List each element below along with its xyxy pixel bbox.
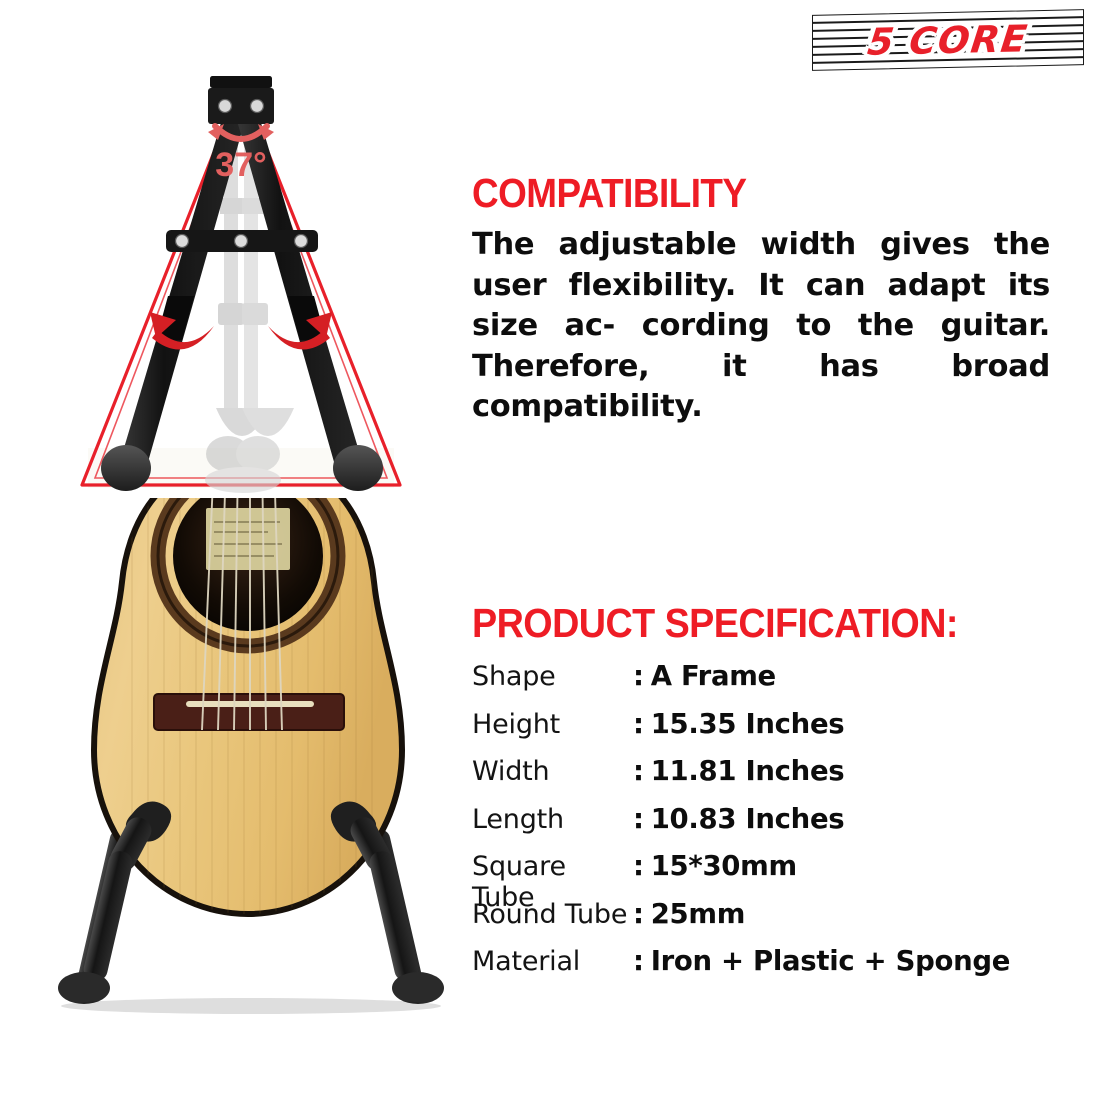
- spec-row: Width :11.81 Inches: [472, 755, 1072, 803]
- spec-row: Shape :A Frame: [472, 660, 1072, 708]
- spec-value: :Iron + Plastic + Sponge: [633, 945, 1010, 977]
- spec-row: Material :Iron + Plastic + Sponge: [472, 945, 1072, 993]
- specification-table: Shape :A Frame Height :15.35 Inches Widt…: [472, 660, 1072, 993]
- spec-value: :15.35 Inches: [633, 708, 844, 740]
- ground-shadow: [61, 998, 441, 1014]
- spec-row: Round Tube :25mm: [472, 898, 1072, 946]
- logo-wordmark-text: 5 CORE: [865, 17, 1030, 63]
- crossbar-rivet-right: [295, 235, 308, 248]
- stand-leg-right-lower: [367, 849, 420, 983]
- bracket-rivet-right: [251, 100, 264, 113]
- compatibility-heading: COMPATIBILITY: [472, 170, 747, 217]
- spec-value: :15*30mm: [633, 850, 797, 882]
- stand-angle-diagram: 37°: [58, 48, 424, 496]
- bracket-rivet-left: [219, 100, 232, 113]
- spec-colon: :: [633, 708, 644, 740]
- guitar-bridge: [154, 694, 344, 730]
- spec-row: Length :10.83 Inches: [472, 803, 1072, 851]
- spec-colon: :: [633, 898, 644, 930]
- spec-colon: :: [633, 755, 644, 787]
- spec-colon: :: [633, 803, 644, 835]
- spec-value-text: 15.35 Inches: [651, 708, 845, 740]
- spec-value-text: 15*30mm: [651, 850, 797, 882]
- specification-heading: PRODUCT SPECIFICATION:: [472, 600, 958, 647]
- spec-value-text: A Frame: [651, 660, 776, 692]
- spec-label: Length: [472, 804, 633, 835]
- spec-value-text: Iron + Plastic + Sponge: [651, 945, 1010, 977]
- top-bracket-cap: [210, 76, 272, 88]
- spec-value-text: 10.83 Inches: [651, 803, 845, 835]
- spec-label: Material: [472, 946, 633, 977]
- compatibility-body: The adjustable width gives the user flex…: [472, 225, 1050, 428]
- angle-label: 37°: [215, 146, 266, 184]
- spec-value: :25mm: [633, 898, 745, 930]
- soundhole-group: [158, 498, 338, 646]
- stand-foot-left-lower: [58, 972, 110, 1004]
- spec-row: Square Tube :15*30mm: [472, 850, 1072, 898]
- guitar-on-stand-photo: [36, 498, 466, 1026]
- spec-row: Height :15.35 Inches: [472, 708, 1072, 756]
- brand-logo: 5 CORE: [812, 12, 1084, 68]
- logo-wordmark: 5 CORE: [809, 9, 1088, 71]
- spec-colon: :: [633, 945, 644, 977]
- spec-label: Shape: [472, 661, 633, 692]
- stand-leg-left-lower: [81, 849, 134, 983]
- spec-value: :11.81 Inches: [633, 755, 844, 787]
- spec-value-text: 11.81 Inches: [651, 755, 845, 787]
- crossbar-rivet-center: [235, 235, 248, 248]
- stand-foot-left: [101, 445, 151, 491]
- crossbar-rivet-left: [176, 235, 189, 248]
- spec-label: Width: [472, 756, 633, 787]
- spec-value: :10.83 Inches: [633, 803, 844, 835]
- stand-foot-right-lower: [392, 972, 444, 1004]
- stand-foot-right: [333, 445, 383, 491]
- spec-value: :A Frame: [633, 660, 776, 692]
- spec-colon: :: [633, 660, 644, 692]
- spec-value-text: 25mm: [651, 898, 745, 930]
- spec-label: Round Tube: [472, 899, 633, 930]
- infographic-page: 5 CORE: [0, 0, 1096, 1096]
- spec-label: Height: [472, 709, 633, 740]
- spec-colon: :: [633, 850, 644, 882]
